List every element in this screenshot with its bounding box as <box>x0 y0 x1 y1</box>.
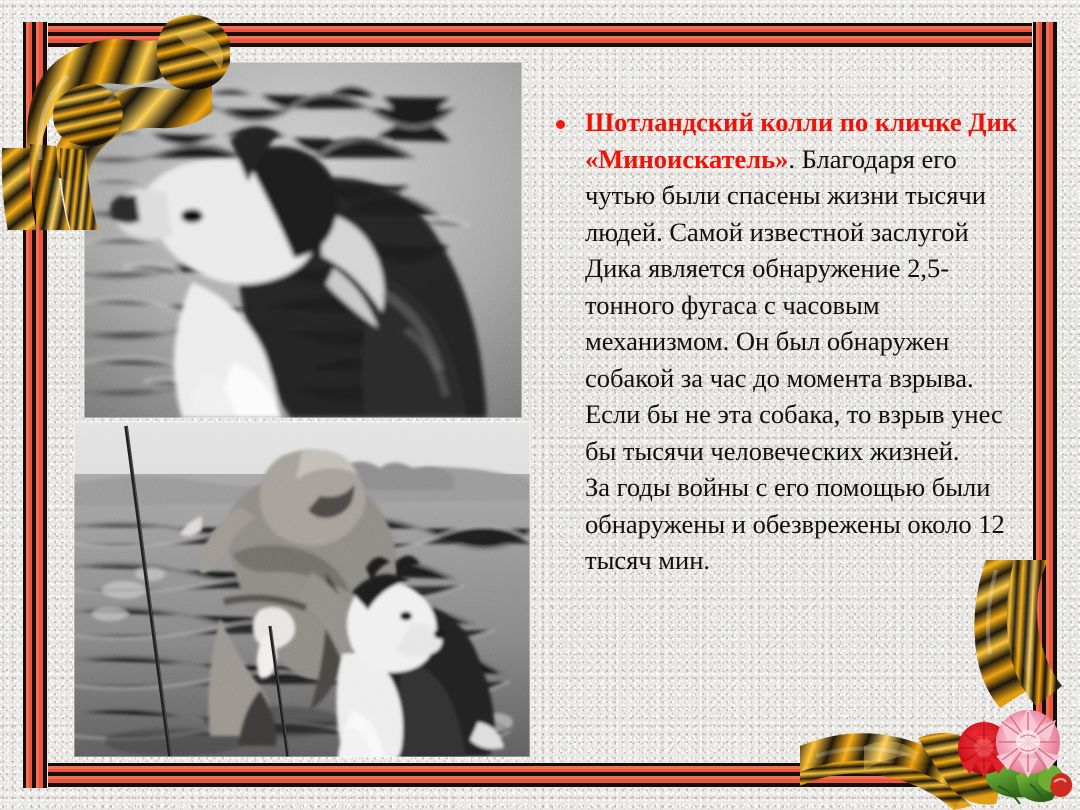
st-george-ribbon-top-left <box>0 0 230 230</box>
photo-sapper <box>74 422 530 757</box>
body-text: Шотландский колли по кличке Дик «Миноиск… <box>585 104 1026 579</box>
carnation-flowers <box>940 690 1080 810</box>
slide-canvas: Шотландский колли по кличке Дик «Миноиск… <box>0 0 1080 810</box>
bullet-marker <box>556 120 565 129</box>
sapper-photo-image <box>74 422 530 757</box>
paragraph-1: Благодаря его чутью были спасены жизни т… <box>585 144 1003 466</box>
text-column: Шотландский колли по кличке Дик «Миноиск… <box>556 104 1026 579</box>
heading-punct: . <box>788 144 795 174</box>
